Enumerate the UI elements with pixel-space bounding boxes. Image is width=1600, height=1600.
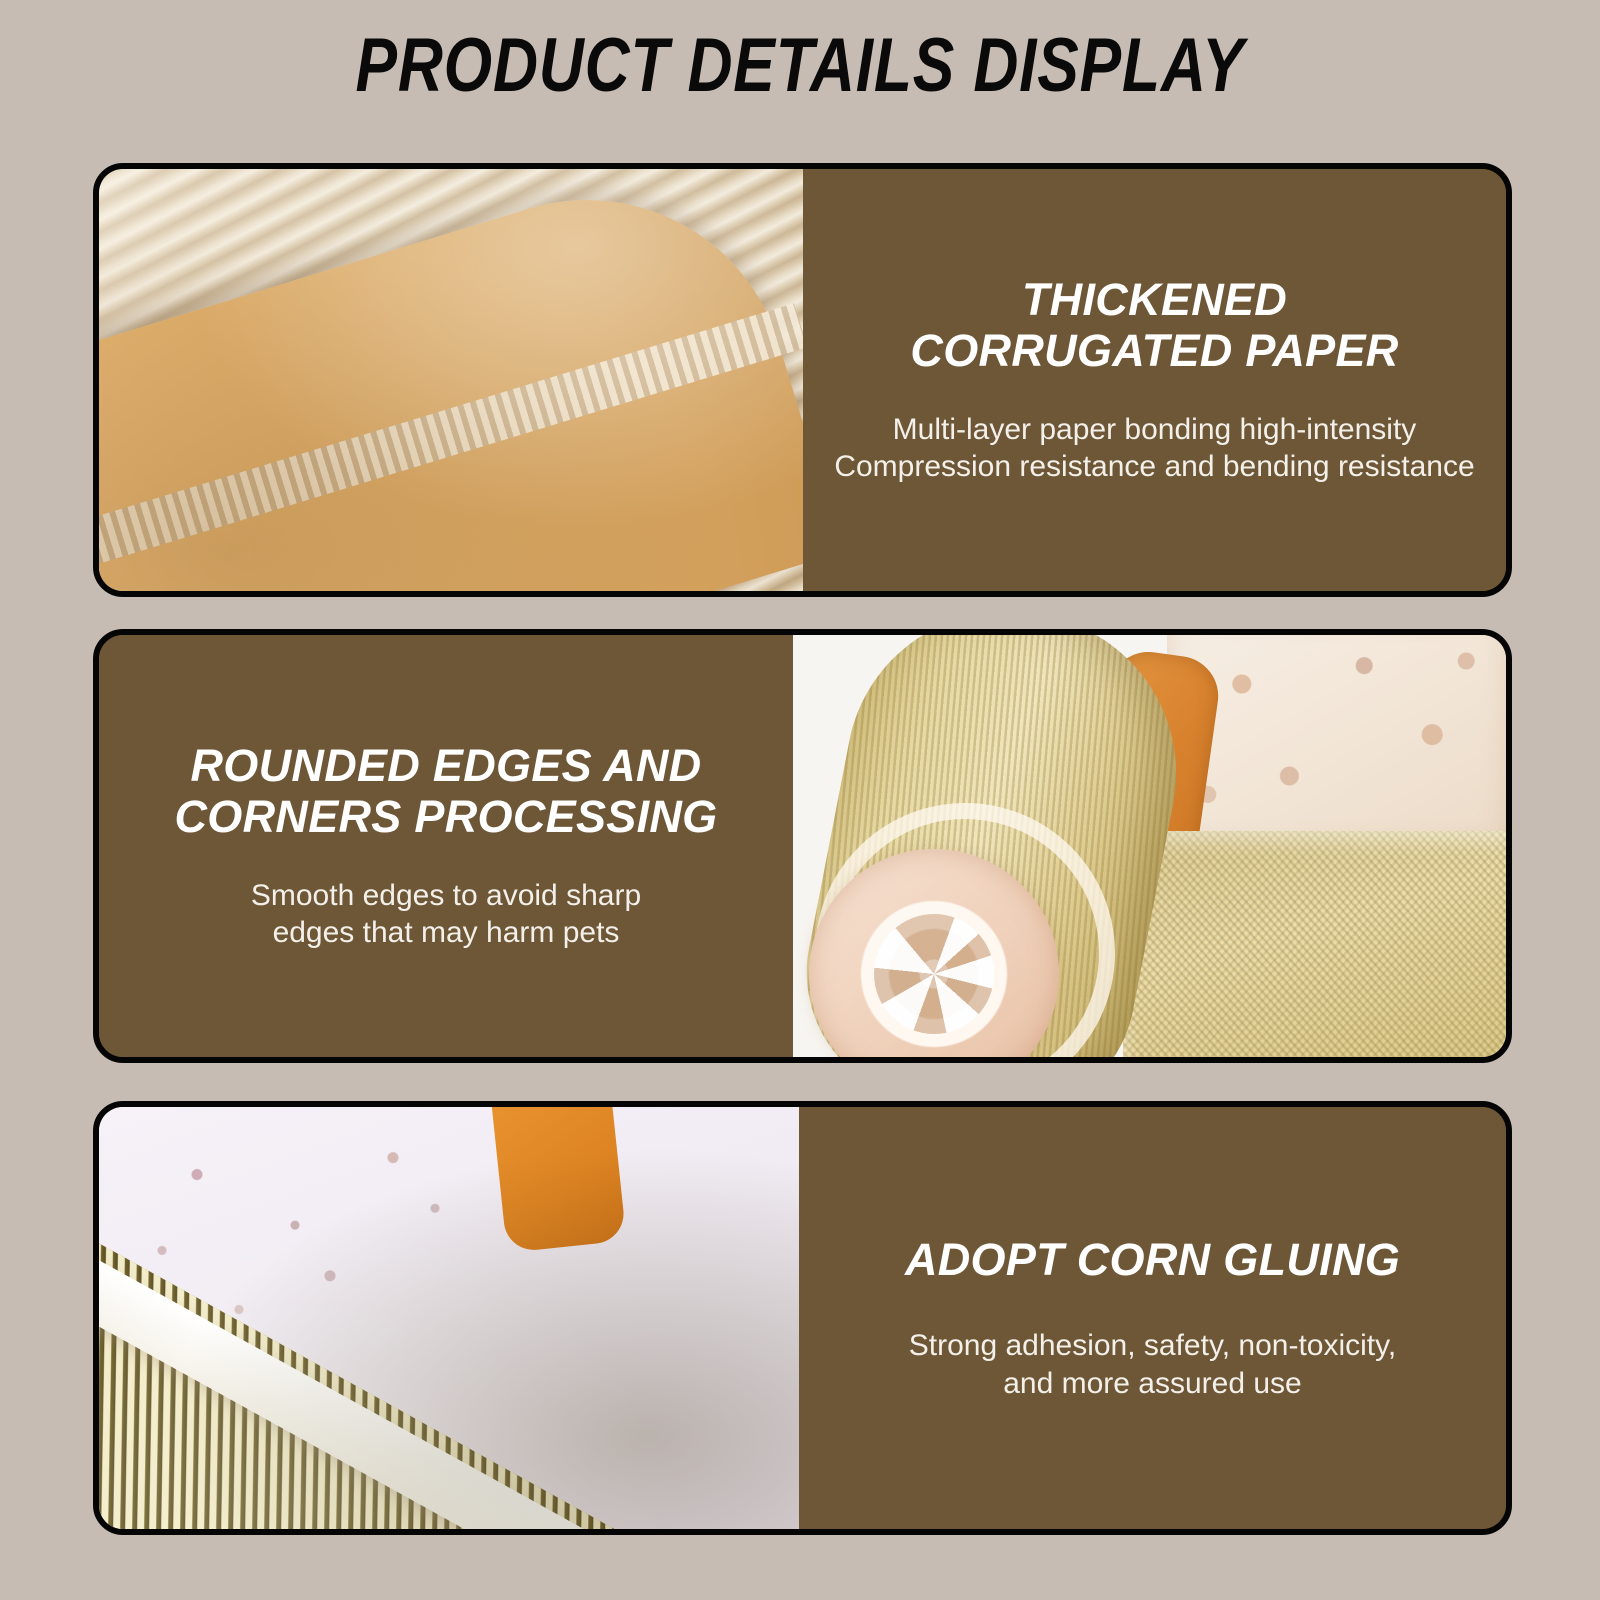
feature-text-block-3: ADOPT CORN GLUING Strong adhesion, safet… (799, 1107, 1506, 1529)
feature-image-honeycomb-mesh (99, 1107, 799, 1529)
feature-heading-2: ROUNDED EDGES AND CORNERS PROCESSING (175, 740, 718, 843)
feature-image-sofa-arm (793, 635, 1506, 1057)
feature-card-thickened-corrugated-paper: THICKENED CORRUGATED PAPER Multi-layer p… (93, 163, 1512, 597)
image-lighting-overlay (99, 169, 803, 591)
feature-card-adopt-corn-gluing: ADOPT CORN GLUING Strong adhesion, safet… (93, 1101, 1512, 1535)
sofa-seat-shape (1123, 831, 1506, 1057)
feature-description-1: Multi-layer paper bonding high-intensity… (834, 411, 1474, 487)
feature-heading-3: ADOPT CORN GLUING (905, 1234, 1400, 1285)
feature-description-2: Smooth edges to avoid sharp edges that m… (251, 877, 641, 953)
page-title: PRODUCT DETAILS DISPLAY (144, 28, 1456, 104)
feature-description-3: Strong adhesion, safety, non-toxicity, a… (909, 1327, 1397, 1403)
feature-text-block-1: THICKENED CORRUGATED PAPER Multi-layer p… (803, 169, 1506, 591)
feature-image-corrugated-paper (99, 169, 803, 591)
floral-pillow-shape (1167, 635, 1506, 845)
feature-text-block-2: ROUNDED EDGES AND CORNERS PROCESSING Smo… (99, 635, 793, 1057)
product-details-infographic: PRODUCT DETAILS DISPLAY THICKENED CORRUG… (0, 0, 1600, 1600)
orange-accent-shape (491, 1107, 626, 1253)
feature-card-rounded-edges-and-corners: ROUNDED EDGES AND CORNERS PROCESSING Smo… (93, 629, 1512, 1063)
feature-heading-1: THICKENED CORRUGATED PAPER (910, 274, 1398, 377)
